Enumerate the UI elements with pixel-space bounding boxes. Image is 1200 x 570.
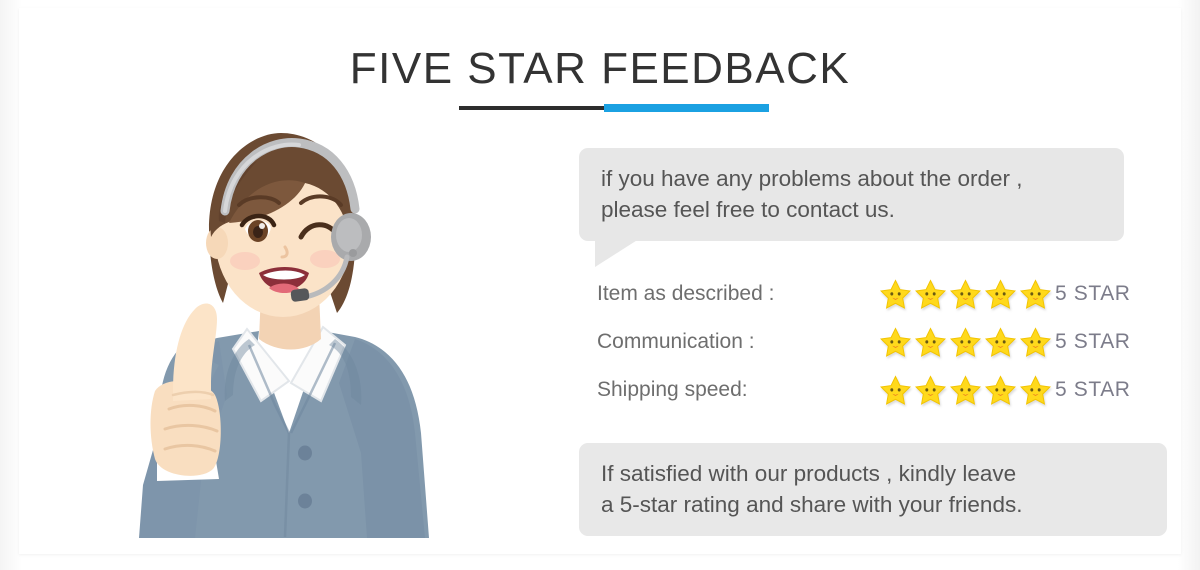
jacket-button-bottom bbox=[298, 494, 312, 509]
content-panel: FIVE STAR FEEDBACK bbox=[19, 8, 1181, 554]
thumbs-up-hand bbox=[151, 304, 221, 481]
star-icon bbox=[984, 374, 1017, 407]
rating-row: Shipping speed: 5 STAR bbox=[597, 366, 1179, 414]
feedback-content-column: if you have any problems about the order… bbox=[579, 148, 1179, 241]
rating-value: 5 STAR bbox=[1055, 330, 1131, 354]
star-icon bbox=[949, 278, 982, 311]
jacket-button-top bbox=[298, 446, 312, 461]
star-icon bbox=[879, 374, 912, 407]
ratings-list: Item as described : 5 STAR Communication… bbox=[597, 270, 1179, 414]
rating-value: 5 STAR bbox=[1055, 282, 1131, 306]
star-icon bbox=[879, 278, 912, 311]
rating-value: 5 STAR bbox=[1055, 378, 1131, 402]
star-icon bbox=[1019, 278, 1052, 311]
star-icon bbox=[914, 374, 947, 407]
star-icon bbox=[914, 278, 947, 311]
rating-label: Communication : bbox=[597, 330, 879, 354]
star-icon bbox=[984, 278, 1017, 311]
title-underline bbox=[459, 104, 769, 112]
rating-label: Item as described : bbox=[597, 282, 879, 306]
star-icon bbox=[1019, 374, 1052, 407]
ear-left bbox=[206, 227, 228, 259]
rating-row: Item as described : 5 STAR bbox=[597, 270, 1179, 318]
star-icon bbox=[914, 326, 947, 359]
customer-service-agent-illustration bbox=[99, 133, 519, 543]
star-icon bbox=[879, 326, 912, 359]
page-title: FIVE STAR FEEDBACK bbox=[19, 44, 1181, 94]
cheek-left bbox=[230, 252, 260, 270]
page-frame: FIVE STAR FEEDBACK bbox=[0, 0, 1200, 570]
contact-message-bubble: if you have any problems about the order… bbox=[579, 148, 1124, 241]
star-icon bbox=[1019, 326, 1052, 359]
rating-stars bbox=[879, 326, 1055, 359]
rating-stars bbox=[879, 278, 1055, 311]
rating-stars bbox=[879, 374, 1055, 407]
speech-bubble-tail bbox=[595, 239, 639, 267]
satisfaction-message-bubble: If satisfied with our products , kindly … bbox=[579, 443, 1167, 536]
rating-label: Shipping speed: bbox=[597, 378, 879, 402]
cheek-right bbox=[310, 250, 340, 268]
rating-row: Communication : 5 STAR bbox=[597, 318, 1179, 366]
contact-message-text: if you have any problems about the order… bbox=[601, 163, 1102, 225]
star-icon bbox=[984, 326, 1017, 359]
title-underline-accent-segment bbox=[604, 104, 769, 112]
title-underline-dark-segment bbox=[459, 106, 604, 110]
satisfaction-message-text: If satisfied with our products , kindly … bbox=[601, 458, 1145, 520]
star-icon bbox=[949, 326, 982, 359]
star-icon bbox=[949, 374, 982, 407]
